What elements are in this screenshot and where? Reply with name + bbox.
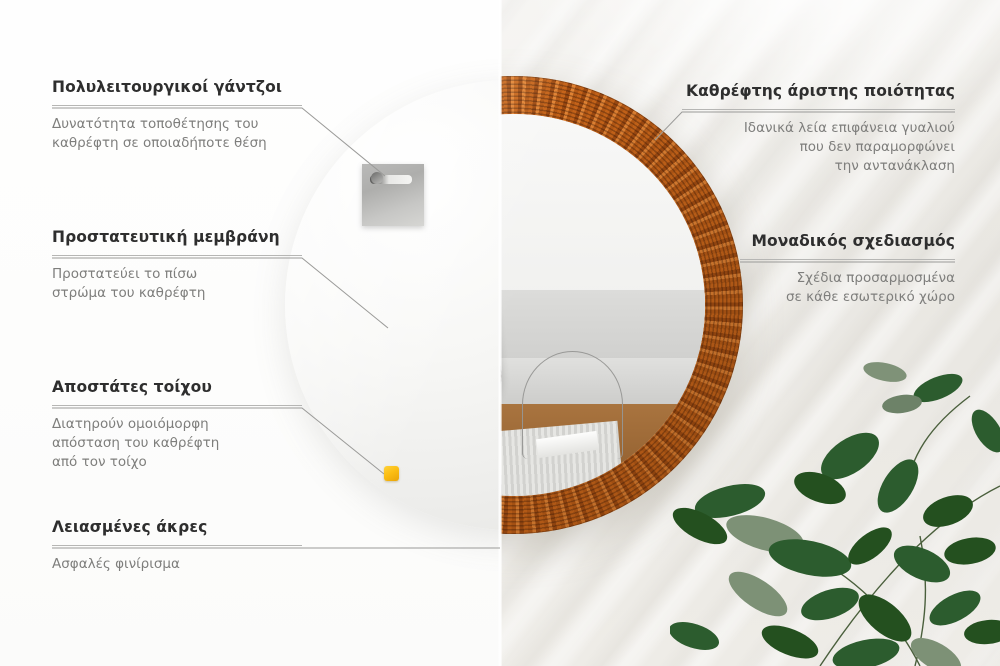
hanging-bracket	[362, 164, 424, 226]
callout-body: Διατηρούν ομοιόμορφηαπόσταση του καθρέφτ…	[52, 415, 302, 472]
callout-title: Λειασμένες άκρες	[52, 518, 302, 536]
callout-wall-spacers: Αποστάτες τοίχου Διατηρούν ομοιόμορφηαπό…	[52, 378, 302, 472]
callout-body: Δυνατότητα τοποθέτησης τουκαθρέφτη σε οπ…	[52, 115, 302, 153]
infographic-canvas: Πολυλειτουργικοί γάντζοι Δυνατότητα τοπο…	[0, 0, 1000, 666]
callout-rule	[52, 545, 302, 546]
callout-rule	[52, 405, 302, 406]
callout-title: Μοναδικός σχεδιασμός	[670, 232, 955, 250]
callout-title: Προστατευτική μεμβράνη	[52, 228, 302, 246]
callout-rule	[682, 109, 955, 110]
callout-protective-membrane: Προστατευτική μεμβράνη Προστατεύει το πί…	[52, 228, 302, 303]
callout-smoothed-edges: Λειασμένες άκρες Ασφαλές φινίρισμα	[52, 518, 302, 574]
keyhole-slot-icon	[370, 175, 412, 184]
callout-rule	[52, 105, 302, 106]
mirror-back-disc-highlight	[285, 80, 500, 530]
callout-title: Καθρέφτης άριστης ποιότητας	[670, 82, 955, 100]
callout-rule	[740, 259, 955, 260]
callout-body: Ασφαλές φινίρισμα	[52, 555, 302, 574]
callout-unique-design: Μοναδικός σχεδιασμός Σχέδια προσαρμοσμέν…	[670, 232, 955, 307]
panel-divider	[498, 0, 502, 666]
callout-title: Πολυλειτουργικοί γάντζοι	[52, 78, 302, 96]
wall-spacer	[384, 466, 399, 481]
callout-top-quality-mirror: Καθρέφτης άριστης ποιότητας Ιδανικά λεία…	[670, 82, 955, 176]
callout-rule	[52, 255, 302, 256]
callout-title: Αποστάτες τοίχου	[52, 378, 302, 396]
callout-body: Ιδανικά λεία επιφάνεια γυαλιούπου δεν πα…	[670, 119, 955, 176]
foliage-decoration	[670, 336, 1000, 666]
callout-body: Προστατεύει το πίσωστρώμα του καθρέφτη	[52, 265, 302, 303]
callout-multifunctional-hooks: Πολυλειτουργικοί γάντζοι Δυνατότητα τοπο…	[52, 78, 302, 153]
callout-body: Σχέδια προσαρμοσμένασε κάθε εσωτερικό χώ…	[670, 269, 955, 307]
